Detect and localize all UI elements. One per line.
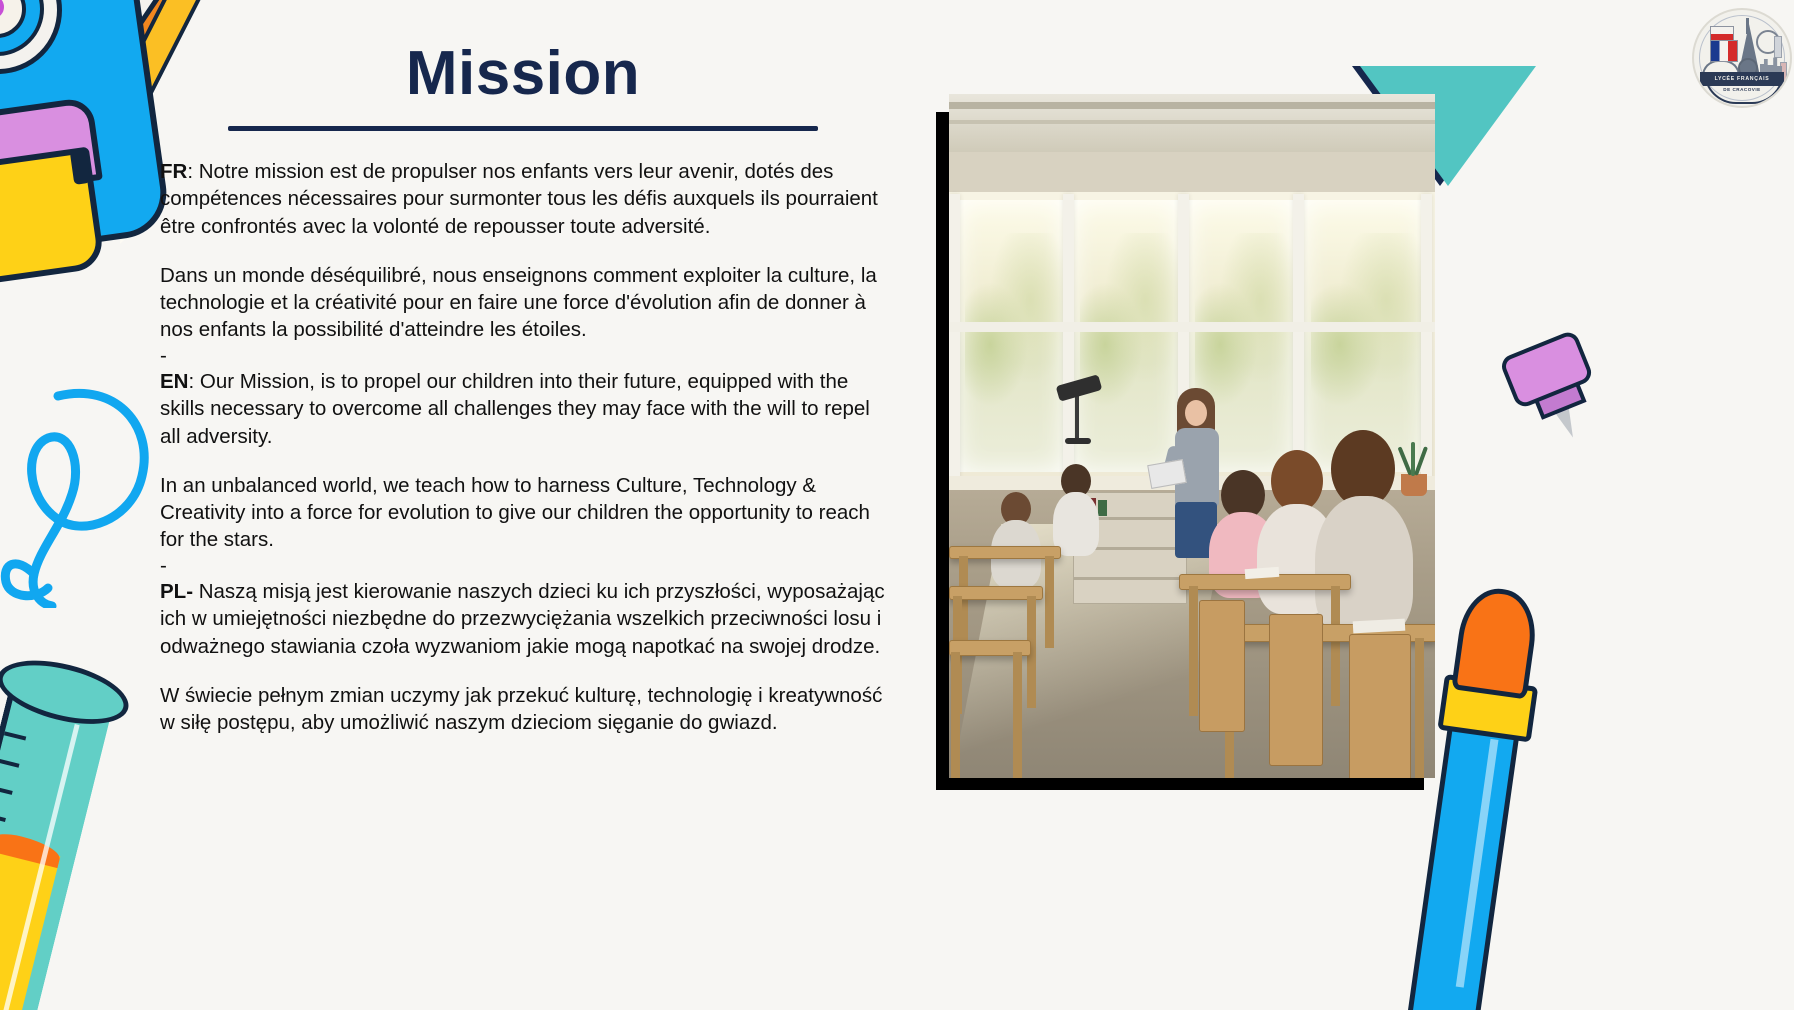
paragraph-fr-2: Dans un monde déséquilibré, nous enseign… <box>160 262 885 344</box>
paragraph-fr-1: FR: Notre mission est de propulser nos e… <box>160 158 885 240</box>
paragraph-pl-1: PL- Naszą misją jest kierowanie naszych … <box>160 578 885 660</box>
backpack-yellow-pocket <box>0 147 106 296</box>
separator-dash-1: - <box>160 344 885 369</box>
separator-dash-2: - <box>160 554 885 579</box>
paragraph-pl-1-text: Naszą misją jest kierowanie naszych dzie… <box>160 580 885 658</box>
logo-banner: LYCÉE FRANÇAIS <box>1700 72 1784 86</box>
test-tube-icon <box>0 648 113 1010</box>
spacer <box>160 450 885 472</box>
title-underline-rule <box>228 126 818 131</box>
slide-canvas: LYCÉE FRANÇAIS DE CRACOVIE Mission FR: N… <box>0 0 1794 1010</box>
mission-text-block: FR: Notre mission est de propulser nos e… <box>160 158 885 736</box>
paintbrush-bristles <box>1451 584 1541 700</box>
spacer <box>160 240 885 262</box>
classroom-photo <box>949 94 1435 778</box>
paragraph-fr-1-text: : Notre mission est de propulser nos enf… <box>160 160 878 238</box>
paragraph-pl-2: W świecie pełnym zmian uczymy jak przeku… <box>160 682 885 737</box>
logo-test-tube-icon <box>1774 36 1782 58</box>
paragraph-en-1: EN: Our Mission, is to propel our childr… <box>160 368 885 450</box>
school-logo: LYCÉE FRANÇAIS DE CRACOVIE <box>1692 8 1792 108</box>
label-fr: FR <box>160 160 187 183</box>
spacer <box>160 660 885 682</box>
paragraph-en-2: In an unbalanced world, we teach how to … <box>160 472 885 554</box>
blue-squiggle-doodle <box>0 378 166 613</box>
page-title: Mission <box>228 40 818 108</box>
title-block: Mission <box>228 40 818 131</box>
paragraph-en-1-text: : Our Mission, is to propel our children… <box>160 370 870 448</box>
logo-subtitle-text: DE CRACOVIE <box>1712 87 1772 92</box>
label-en: EN <box>160 370 188 393</box>
label-pl: PL- <box>160 580 193 603</box>
logo-france-flag-icon <box>1710 40 1738 62</box>
logo-banner-text: LYCÉE FRANÇAIS <box>1715 76 1770 82</box>
